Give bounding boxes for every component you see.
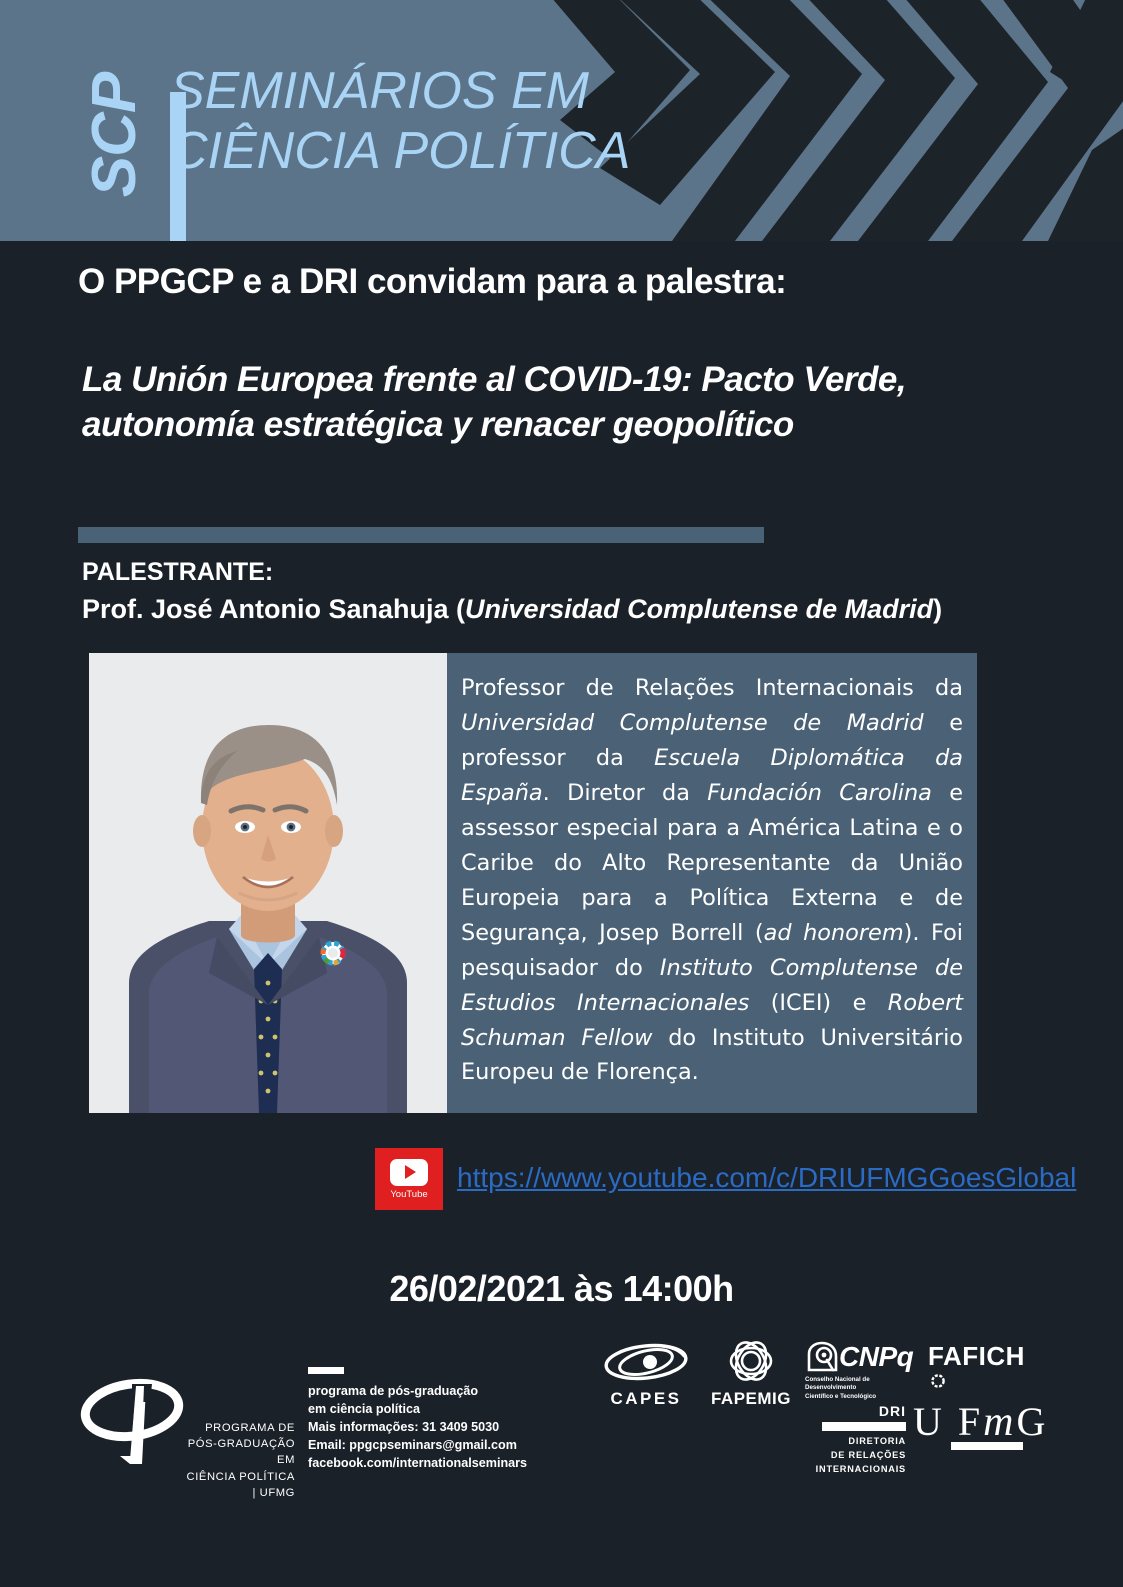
brand-title-line1: SEMINÁRIOS EM [170, 62, 589, 120]
dri-abbr: DRI [806, 1403, 906, 1419]
speaker-portrait [89, 653, 447, 1113]
bio-run: . Diretor da [543, 780, 708, 806]
speaker-name-text: Prof. José Antonio Sanahuja ( [82, 594, 465, 624]
dri-subtitle-line3: INTERNACIONAIS [806, 1463, 906, 1477]
cnpq-mark-icon [805, 1340, 839, 1374]
fapemig-wordmark: FAPEMIG [710, 1389, 792, 1409]
contact-program-line2: em ciência política [308, 1401, 558, 1419]
ppgcp-line1: PROGRAMA DE [180, 1420, 295, 1436]
contact-email[interactable]: Email: ppgcpseminars@gmail.com [308, 1437, 558, 1455]
speaker-name-close: ) [933, 594, 942, 624]
dri-subtitle: DIRETORIA DE RELAÇÕES INTERNACIONAIS [806, 1435, 906, 1476]
ufmg-wordmark: U FmG [913, 1398, 1048, 1446]
seminar-poster: SCP SEMINÁRIOS EMCIÊNCIA POLÍTICA O PPGC… [0, 0, 1123, 1587]
fafich-logo: FAFICH [928, 1341, 1025, 1393]
capes-wordmark: CAPES [600, 1389, 692, 1409]
dri-subtitle-line2: DE RELAÇÕES [806, 1449, 906, 1463]
ufmg-part2: m [983, 1399, 1016, 1445]
speaker-bio-text: Professor de Relações Internacionais da … [461, 671, 963, 1090]
contact-dash-decoration [308, 1367, 344, 1374]
stream-url-link[interactable]: https://www.youtube.com/c/DRIUFMGGoesGlo… [457, 1162, 1076, 1194]
youtube-label: YouTube [390, 1189, 427, 1200]
speaker-name: Prof. José Antonio Sanahuja (Universidad… [82, 594, 942, 625]
fapemig-mark-icon [710, 1340, 792, 1382]
ppgcp-wordmark: PROGRAMA DE PÓS-GRADUAÇÃO EM CIÊNCIA POL… [180, 1420, 295, 1501]
event-datetime: 26/02/2021 às 14:00h [0, 1268, 1123, 1310]
invitation-line: O PPGCP e a DRI convidam para a palestra… [78, 262, 786, 302]
bio-emphasis: Fundación Carolina [707, 780, 932, 806]
capes-logo: CAPES [600, 1340, 692, 1409]
ppgcp-line2: PÓS-GRADUAÇÃO EM [180, 1436, 295, 1468]
brand-title: SEMINÁRIOS EMCIÊNCIA POLÍTICA [170, 62, 630, 182]
ufmg-part1: U F [913, 1399, 983, 1444]
bio-run: Professor de Relações Internacionais da [461, 675, 963, 701]
capes-mark-icon [600, 1340, 692, 1382]
dri-bar-decoration [822, 1422, 906, 1431]
scp-logo: SCP [52, 48, 180, 198]
bio-run: (ICEI) e [749, 990, 888, 1016]
cnpq-wordmark: CNPq [839, 1341, 913, 1373]
speaker-bio-panel: Professor de Relações Internacionais da … [447, 653, 977, 1113]
talk-title: La Unión Europea frente al COVID-19: Pac… [82, 358, 962, 448]
speaker-label: PALESTRANTE: [82, 558, 273, 587]
cnpq-row: CNPq [805, 1340, 915, 1374]
poster-header: SCP SEMINÁRIOS EMCIÊNCIA POLÍTICA [0, 0, 1123, 241]
brand-title-line2: CIÊNCIA POLÍTICA [170, 122, 630, 180]
ufmg-logo: U FmG [913, 1398, 1048, 1450]
scp-abbr: SCP [84, 60, 146, 210]
fapemig-logo: FAPEMIG [710, 1340, 792, 1409]
ufmg-part3: G [1016, 1399, 1048, 1444]
contact-facebook[interactable]: facebook.com/internationalseminars [308, 1455, 558, 1473]
youtube-icon[interactable]: YouTube [375, 1148, 443, 1210]
play-icon [390, 1159, 428, 1186]
cnpq-subtitle-line1: Conselho Nacional de Desenvolvimento [805, 1376, 915, 1393]
contact-phone: Mais informações: 31 3409 5030 [308, 1419, 558, 1437]
section-divider [78, 527, 764, 543]
contact-block: programa de pós-graduação em ciência pol… [308, 1367, 558, 1472]
dri-logo: DRI DIRETORIA DE RELAÇÕES INTERNACIONAIS [806, 1403, 906, 1476]
ppgcp-line3: CIÊNCIA POLÍTICA | UFMG [180, 1469, 295, 1501]
bio-emphasis: ad honorem [764, 920, 904, 946]
bio-emphasis: Universidad Complutense de Madrid [461, 710, 924, 736]
contact-program-line1: programa de pós-graduação [308, 1383, 558, 1401]
cnpq-logo: CNPq Conselho Nacional de Desenvolviment… [805, 1340, 915, 1401]
contact-lines: programa de pós-graduação em ciência pol… [308, 1383, 558, 1472]
speaker-affiliation: Universidad Complutense de Madrid [465, 594, 933, 624]
fafich-wordmark: FAFICH [928, 1341, 1025, 1372]
ppgcp-mark-icon [80, 1368, 185, 1473]
dri-subtitle-line1: DIRETORIA [806, 1435, 906, 1449]
fafich-mark-icon [928, 1374, 948, 1388]
cnpq-subtitle: Conselho Nacional de Desenvolvimento Cie… [805, 1376, 915, 1401]
ppgcp-logo: PROGRAMA DE PÓS-GRADUAÇÃO EM CIÊNCIA POL… [80, 1368, 295, 1473]
cnpq-subtitle-line2: Científico e Tecnológico [805, 1393, 915, 1401]
